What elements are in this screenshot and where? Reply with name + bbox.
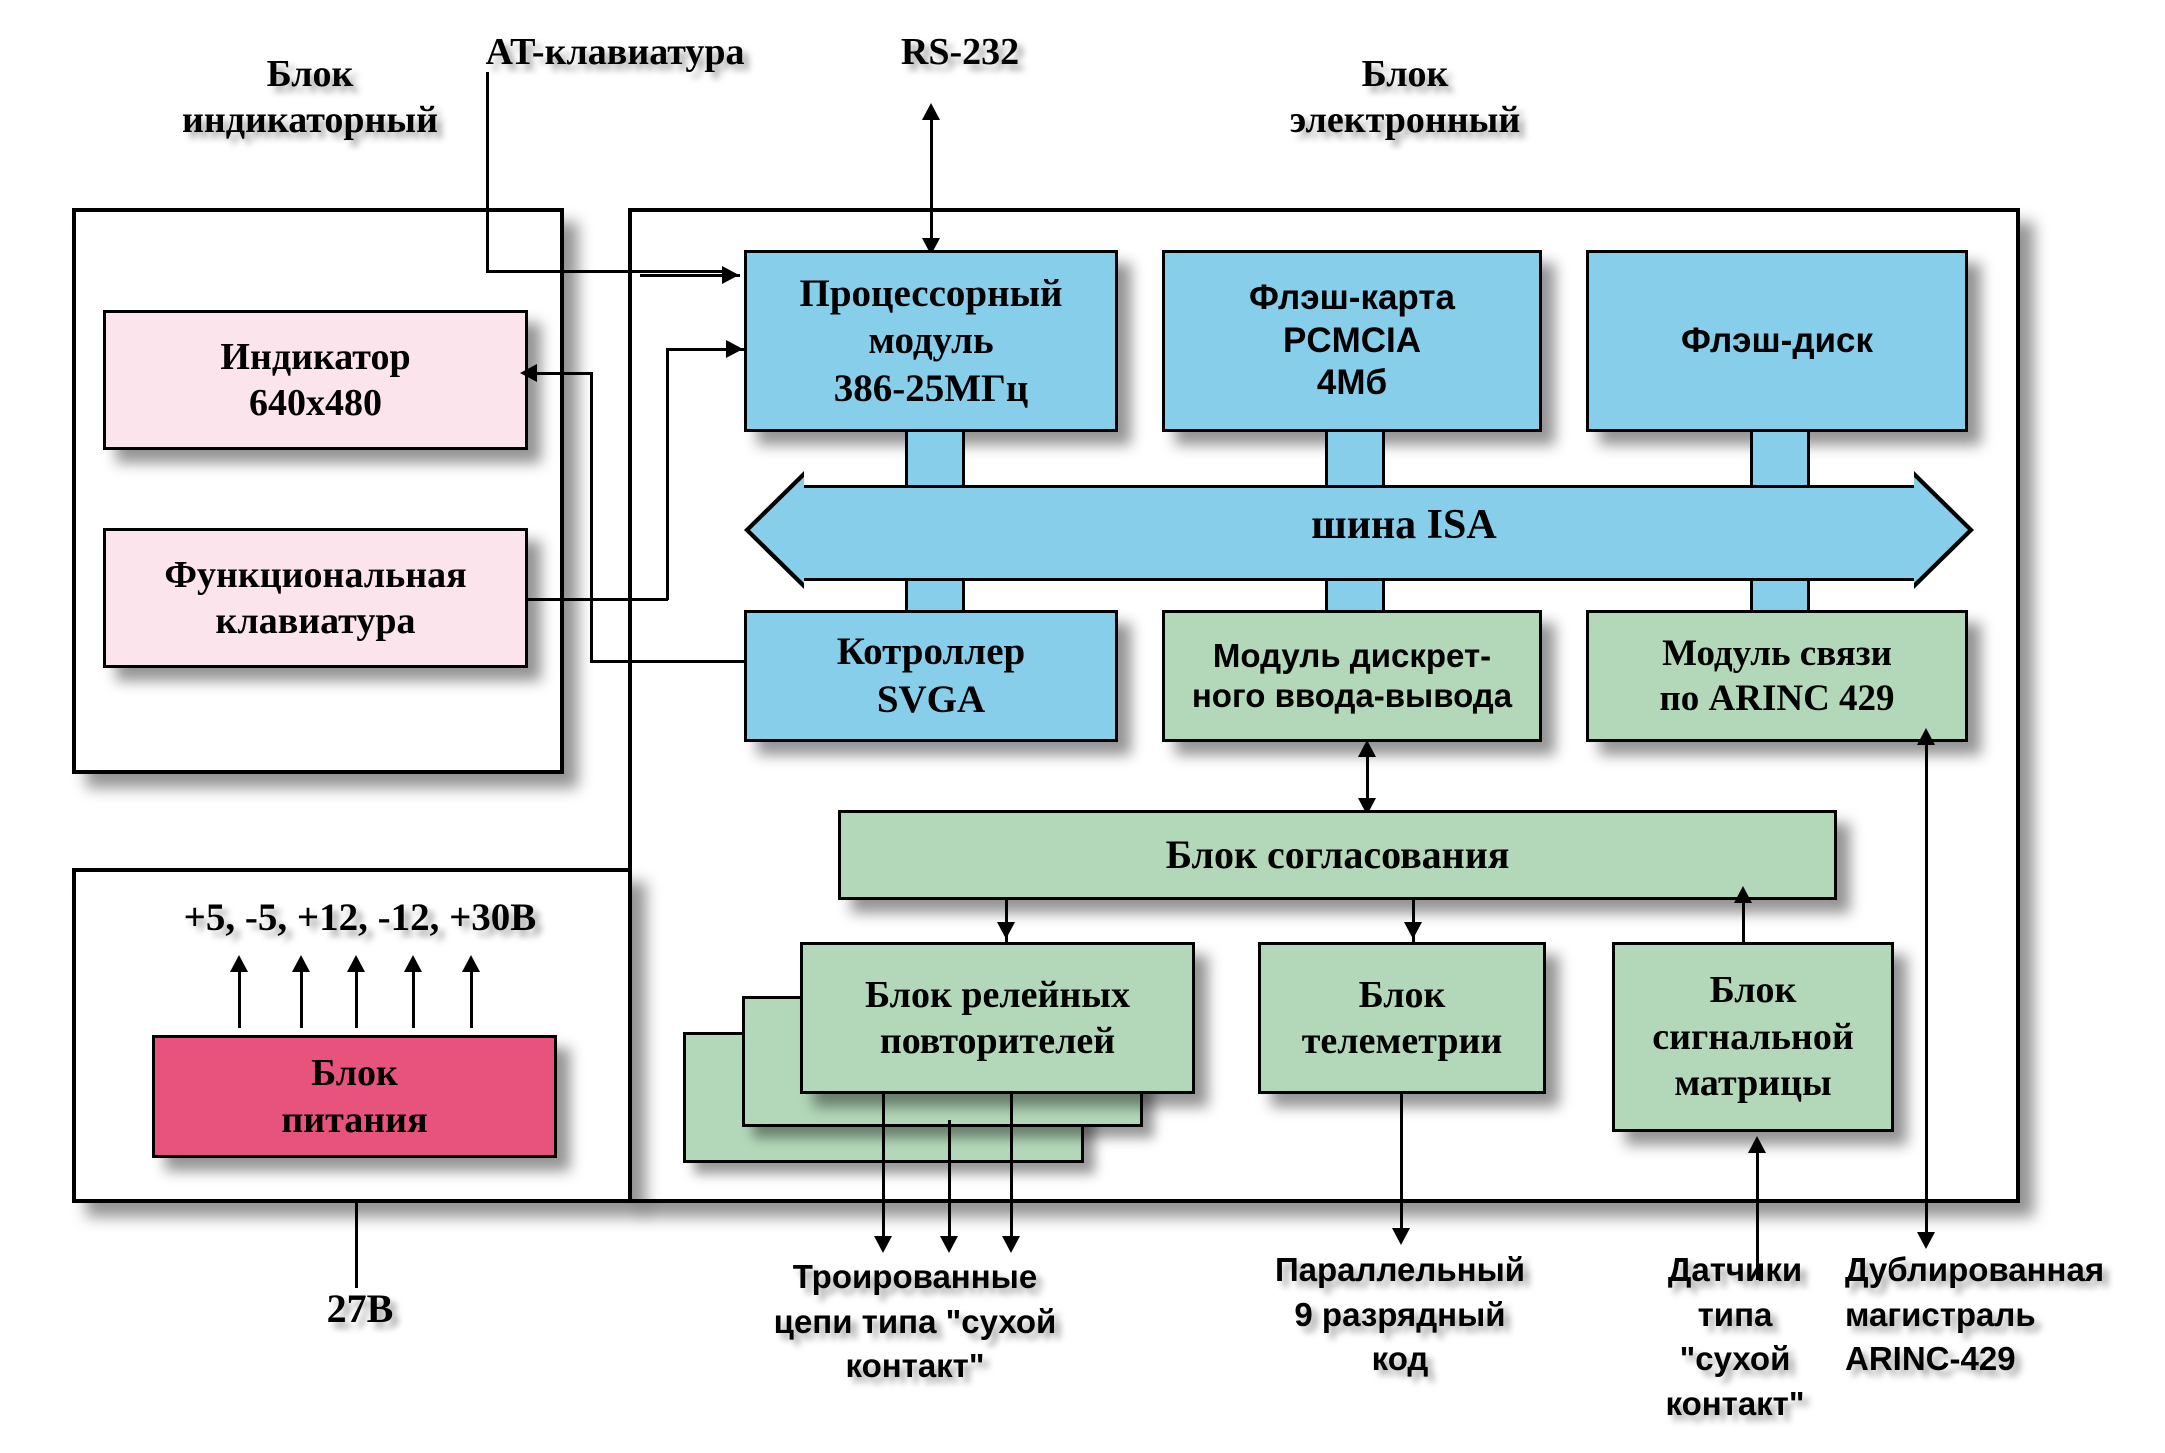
block-relay-repeaters-line2: повторителей — [880, 1018, 1115, 1064]
label-arinc-duplicated-bus-line1: Дублированная — [1845, 1248, 2155, 1293]
caption-electronic-unit: Блок электронный — [1230, 52, 1580, 143]
label-parallel-9bit-line1: Параллельный — [1235, 1248, 1565, 1293]
block-matching-unit-label: Блок согласования — [1166, 831, 1510, 880]
label-arinc-duplicated-bus-line3: ARINC-429 — [1845, 1337, 2155, 1382]
label-dry-contact-sensors: Датчики типа "сухой контакт" — [1620, 1248, 1850, 1426]
isa-bus-arrow-right-fill — [1914, 477, 1968, 583]
arrowhead-relay-out-2 — [940, 1236, 958, 1253]
caption-rs232: RS-232 — [850, 30, 1070, 76]
arrowhead-power-rail-5 — [462, 955, 480, 972]
arrowhead-power-rail-1 — [230, 955, 248, 972]
caption-display-unit-line1: Блок — [150, 52, 470, 98]
caption-display-unit: Блок индикаторный — [150, 52, 470, 143]
block-relay-repeaters-line1: Блок релейных — [865, 972, 1130, 1018]
block-signal-matrix-unit-line2: сигнальной — [1652, 1014, 1853, 1060]
caption-electronic-unit-line2: электронный — [1230, 98, 1580, 144]
line-27v-input — [355, 1203, 358, 1288]
arrowhead-rs232-up — [922, 103, 940, 120]
block-signal-matrix-unit-line3: матрицы — [1674, 1060, 1831, 1106]
line-power-rail-2 — [300, 968, 303, 1028]
block-arinc429-module-line2: по ARINC 429 — [1659, 676, 1894, 721]
block-cpu-module-line3: 386-25МГц — [834, 365, 1029, 413]
arrowhead-svga-to-indicator — [520, 364, 537, 382]
line-keyboard-to-cpu-v — [666, 348, 669, 600]
line-power-rail-1 — [238, 968, 241, 1028]
display-unit-container — [72, 208, 564, 774]
block-matching-unit[interactable]: Блок согласования — [838, 810, 1837, 900]
line-svga-to-indicator-h1 — [528, 372, 593, 375]
caption-power-rails: +5, -5, +12, -12, +30В — [120, 895, 600, 942]
arrowhead-arinc-bus-up — [1917, 728, 1935, 745]
arrowhead-power-rail-4 — [404, 955, 422, 972]
caption-27v: 27В — [270, 1285, 450, 1333]
arrowhead-matching-to-telemetry — [1404, 922, 1422, 939]
line-power-rail-3 — [355, 968, 358, 1028]
label-dry-contact-triple: Троированные цепи типа "сухой контакт" — [740, 1255, 1090, 1389]
diagram-canvas: Блок индикаторный AT-клавиатура RS-232 Б… — [0, 0, 2165, 1453]
block-discrete-io-module-line1: Модуль дискрет- — [1213, 636, 1491, 676]
block-signal-matrix-unit[interactable]: Блок сигнальной матрицы — [1612, 942, 1894, 1132]
arrowhead-at-keyboard-to-cpu — [722, 266, 739, 284]
block-flash-disk[interactable]: Флэш-диск — [1586, 250, 1968, 432]
label-arinc-duplicated-bus: Дублированная магистраль ARINC-429 — [1845, 1248, 2155, 1382]
label-dry-contact-sensors-line3: "сухой — [1620, 1337, 1850, 1382]
label-dry-contact-triple-line2: цепи типа "сухой — [740, 1300, 1090, 1345]
block-flash-card-line1: Флэш-карта — [1249, 277, 1455, 320]
block-power-supply[interactable]: Блок питания — [152, 1035, 557, 1158]
label-parallel-9bit-line3: код — [1235, 1337, 1565, 1382]
block-flash-card[interactable]: Флэш-карта PCMCIA 4Мб — [1162, 250, 1542, 432]
block-flash-card-line3: 4Мб — [1317, 362, 1387, 405]
isa-bus-arrow-left-fill — [750, 477, 804, 583]
block-arinc429-module-line1: Модуль связи — [1662, 631, 1892, 676]
line-rs232-vertical — [930, 118, 933, 248]
block-discrete-io-module-line2: ного ввода-вывода — [1192, 676, 1512, 716]
line-power-rail-5 — [470, 968, 473, 1028]
arrowhead-power-rail-3 — [347, 955, 365, 972]
label-dry-contact-triple-line3: контакт" — [740, 1344, 1090, 1389]
label-parallel-9bit-line2: 9 разрядный — [1235, 1293, 1565, 1338]
block-indicator-line1: Индикатор — [220, 334, 410, 380]
caption-electronic-unit-line1: Блок — [1230, 52, 1580, 98]
label-dry-contact-sensors-line4: контакт" — [1620, 1382, 1850, 1427]
label-dry-contact-sensors-line2: типа — [1620, 1293, 1850, 1338]
isa-bus-label: шина ISA — [1174, 501, 1634, 549]
arrowhead-matching-to-relay — [997, 922, 1015, 939]
isa-bus[interactable]: шина ISA — [744, 485, 1974, 575]
block-telemetry-unit-line1: Блок — [1359, 972, 1446, 1018]
label-arinc-duplicated-bus-line2: магистраль — [1845, 1293, 2155, 1338]
line-relay-out-1 — [882, 1094, 885, 1244]
block-flash-disk-line1: Флэш-диск — [1681, 320, 1873, 363]
block-arinc429-module[interactable]: Модуль связи по ARINC 429 — [1586, 610, 1968, 742]
label-parallel-9bit: Параллельный 9 разрядный код — [1235, 1248, 1565, 1382]
line-relay-out-3 — [1010, 1094, 1013, 1244]
label-dry-contact-sensors-line1: Датчики — [1620, 1248, 1850, 1293]
line-svga-to-indicator-h2 — [590, 660, 750, 663]
block-svga-controller-line1: Котроллер — [837, 628, 1025, 676]
block-indicator-line2: 640х480 — [249, 380, 382, 426]
line-power-rail-4 — [412, 968, 415, 1028]
block-function-keyboard[interactable]: Функциональная клавиатура — [103, 528, 528, 668]
line-svga-to-indicator-v — [590, 372, 593, 662]
block-telemetry-unit-line2: телеметрии — [1302, 1018, 1503, 1064]
label-dry-contact-triple-line1: Троированные — [740, 1255, 1090, 1300]
line-relay-out-2 — [948, 1120, 951, 1244]
block-flash-card-line2: PCMCIA — [1283, 320, 1421, 363]
block-cpu-module[interactable]: Процессорный модуль 386-25МГц — [744, 250, 1118, 432]
arrowhead-keyboard-to-cpu — [726, 340, 743, 358]
block-function-keyboard-line2: клавиатура — [216, 598, 416, 644]
block-power-supply-line1: Блок — [311, 1050, 398, 1096]
block-indicator[interactable]: Индикатор 640х480 — [103, 310, 528, 450]
block-cpu-module-line2: модуль — [868, 317, 993, 365]
arrowhead-sensors-to-signalmatrix — [1748, 1136, 1766, 1153]
block-svga-controller[interactable]: Котроллер SVGA — [744, 610, 1118, 742]
block-telemetry-unit[interactable]: Блок телеметрии — [1258, 942, 1546, 1094]
line-telemetry-out — [1400, 1094, 1403, 1234]
line-keyboard-to-cpu-h1 — [528, 598, 668, 601]
block-signal-matrix-unit-line1: Блок — [1710, 967, 1797, 1013]
arrowhead-telemetry-out — [1392, 1228, 1410, 1245]
arrowhead-arinc-bus-down — [1917, 1232, 1935, 1249]
caption-at-keyboard: AT-клавиатура — [440, 30, 790, 76]
block-cpu-module-line1: Процессорный — [800, 270, 1063, 318]
block-relay-repeaters[interactable]: Блок релейных повторителей — [800, 942, 1195, 1094]
arrowhead-relay-out-1 — [874, 1236, 892, 1253]
line-at-keyboard-horizontal — [486, 270, 726, 273]
arrowhead-power-rail-2 — [292, 955, 310, 972]
block-discrete-io-module[interactable]: Модуль дискрет- ного ввода-вывода — [1162, 610, 1542, 742]
block-function-keyboard-line1: Функциональная — [164, 552, 466, 598]
arrowhead-matching-to-discrete-io — [1358, 740, 1376, 757]
arrowhead-relay-out-3 — [1002, 1236, 1020, 1253]
line-arinc-bus-vertical — [1925, 742, 1928, 1244]
line-at-keyboard-vertical — [486, 72, 489, 272]
block-svga-controller-line2: SVGA — [877, 676, 985, 724]
arrowhead-signalmatrix-to-matching — [1734, 886, 1752, 903]
caption-display-unit-line2: индикаторный — [150, 98, 470, 144]
block-power-supply-line2: питания — [281, 1097, 427, 1143]
